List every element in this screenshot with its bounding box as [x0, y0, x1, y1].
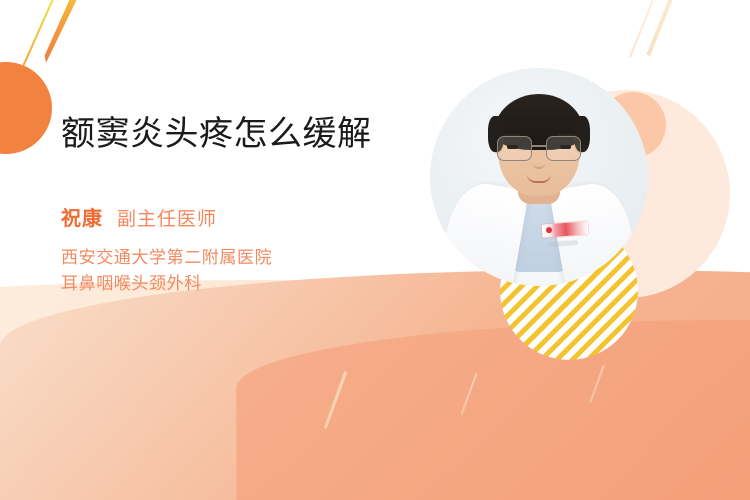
doctor-job-title: 副主任医师 — [117, 204, 217, 231]
streak-thin-yellow-icon — [22, 0, 60, 67]
doctor-portrait — [430, 68, 648, 286]
streak-pale-bottom-left-icon — [324, 371, 347, 428]
portrait-figure — [430, 68, 648, 286]
orange-circle-decoration — [0, 62, 52, 154]
portrait-cluster — [404, 50, 724, 380]
hospital-name: 西安交通大学第二附属医院 — [61, 245, 421, 271]
eye-left — [507, 145, 518, 149]
glasses-bridge — [531, 145, 547, 147]
doctor-info-card: 额窦炎头疼怎么缓解 祝康 副主任医师 西安交通大学第二附属医院 耳鼻咽喉头颈外科 — [0, 0, 750, 500]
eye-right — [560, 145, 571, 149]
streak-orange-gradient-icon — [42, 0, 81, 64]
doctor-affiliation: 西安交通大学第二附属医院 耳鼻咽喉头颈外科 — [61, 245, 421, 297]
doctor-name: 祝康 — [61, 202, 103, 231]
text-block: 额窦炎头疼怎么缓解 祝康 副主任医师 西安交通大学第二附属医院 耳鼻咽喉头颈外科 — [61, 112, 421, 297]
nose — [533, 154, 545, 169]
streak-pale-top-right-thin-icon — [629, 0, 661, 57]
doctor-credit-row: 祝康 副主任医师 — [61, 202, 421, 231]
badge-logo-icon — [546, 227, 552, 233]
streak-pale-top-right-icon — [646, 0, 677, 56]
department-name: 耳鼻咽喉头颈外科 — [61, 271, 421, 297]
page-title: 额窦炎头疼怎么缓解 — [61, 112, 421, 156]
